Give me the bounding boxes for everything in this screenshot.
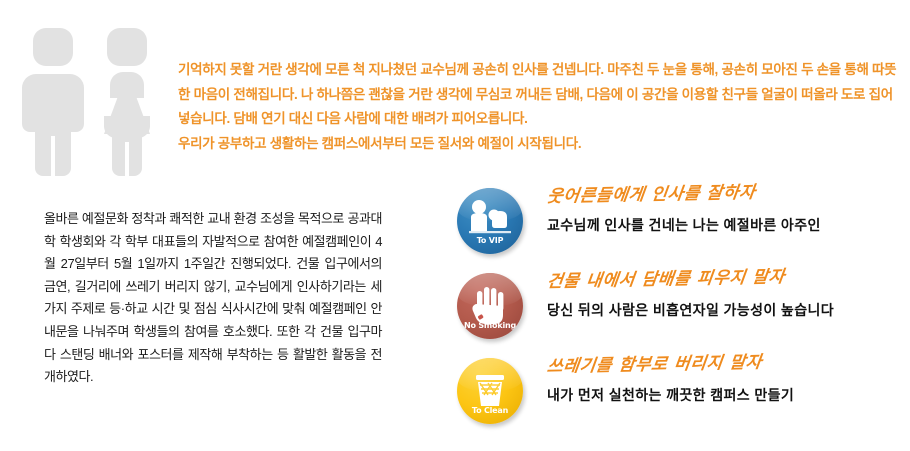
male-figure-body	[22, 74, 84, 132]
intro-paragraph: 기억하지 못할 거란 생각에 모른 척 지나쳤던 교수님께 공손히 인사를 건넵…	[178, 58, 903, 156]
campaign-item-no-smoking: No Smoking 건물 내에서 담배를 피우지 말자 당신 뒤의 사람은 비…	[455, 271, 905, 356]
female-figure-icon	[96, 28, 158, 176]
campaign-text-to-vip: 웃어른들에게 인사를 잘하자 교수님께 인사를 건네는 나는 예절바른 아주인	[547, 186, 899, 235]
badge-no-smoking[interactable]: No Smoking	[457, 273, 523, 339]
campaign-text-to-clean: 쓰레기를 함부로 버리지 말자 내가 먼저 실천하는 깨끗한 캠퍼스 만들기	[547, 356, 899, 405]
female-figure-head	[107, 28, 147, 66]
badge-caption-no-smoking: No Smoking	[457, 321, 523, 330]
campaign-list: To VIP 웃어른들에게 인사를 잘하자 교수님께 인사를 건네는 나는 예절…	[455, 186, 905, 441]
campaign-subtitle-no-smoking: 당신 뒤의 사람은 비흡연자일 가능성이 높습니다	[547, 300, 899, 320]
campaign-heading-to-vip: 웃어른들에게 인사를 잘하자	[546, 179, 902, 208]
article-body-text: 올바른 예절문화 정착과 쾌적한 교내 환경 조성을 목적으로 공과대학 학생회…	[44, 208, 382, 389]
badge-to-clean[interactable]: To Clean	[457, 358, 523, 424]
campaign-item-to-vip: To VIP 웃어른들에게 인사를 잘하자 교수님께 인사를 건네는 나는 예절…	[455, 186, 905, 271]
badge-caption-to-vip: To VIP	[457, 236, 523, 245]
campaign-text-no-smoking: 건물 내에서 담배를 피우지 말자 당신 뒤의 사람은 비흡연자일 가능성이 높…	[547, 271, 899, 320]
male-figure-legs	[35, 128, 71, 176]
male-figure-head	[33, 28, 73, 66]
female-figure-legs	[112, 134, 142, 176]
male-figure-icon	[22, 28, 84, 176]
badge-to-vip[interactable]: To VIP	[457, 188, 523, 254]
female-figure-leg-gap	[125, 142, 129, 176]
male-figure-leg-gap	[51, 136, 55, 176]
campaign-subtitle-to-vip: 교수님께 인사를 건네는 나는 예절바른 아주인	[547, 215, 899, 235]
badge-caption-to-clean: To Clean	[457, 406, 523, 415]
people-figures-decoration	[22, 28, 158, 176]
campaign-subtitle-to-clean: 내가 먼저 실천하는 깨끗한 캠퍼스 만들기	[547, 385, 899, 405]
campaign-item-to-clean: To Clean 쓰레기를 함부로 버리지 말자 내가 먼저 실천하는 깨끗한 …	[455, 356, 905, 441]
